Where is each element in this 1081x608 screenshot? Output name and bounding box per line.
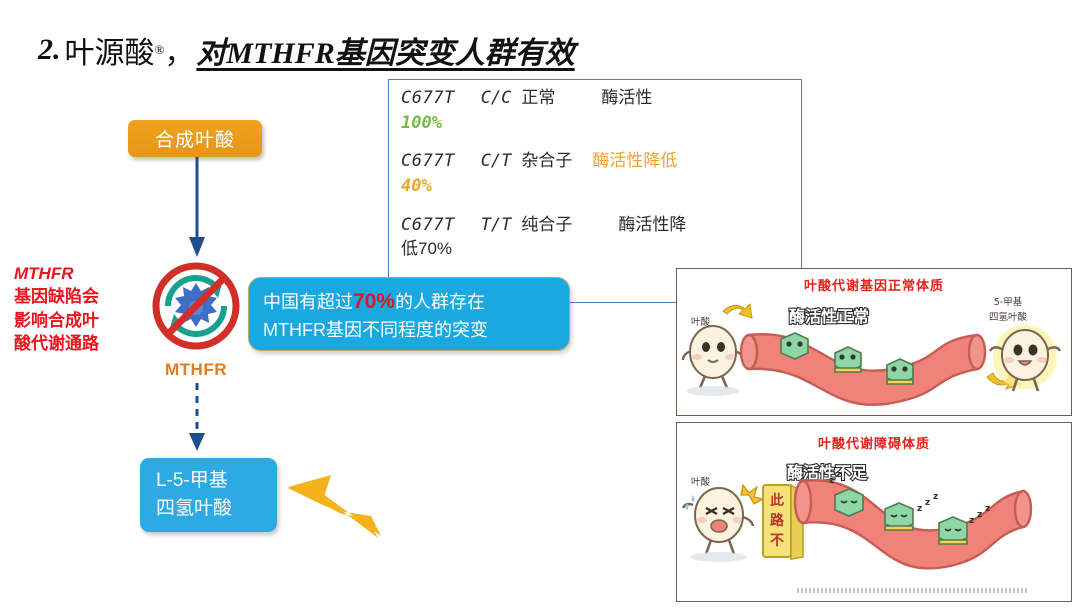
population-mutation-callout: 中国有超过70%的人群存在 MTHFR基因不同程度的突变 [248,277,570,351]
row-activity-value: 40% [401,176,432,196]
note-line-4: 酸代谢通路 [14,332,134,355]
row-genotype: T/T [481,215,512,235]
row-genotype: C/T [481,151,512,171]
svg-text:z: z [925,498,930,508]
svg-text:z: z [836,470,841,480]
l5-methyltetrahydrofolate-box[interactable]: L-5-甲基 四氢叶酸 [140,458,277,532]
svg-text:不: 不 [770,533,784,549]
mthfr-warning-note: MTHFR 基因缺陷会 影响合成叶 酸代谢通路 [14,262,134,356]
watermark [797,588,1027,593]
row-zygosity: 正常 [521,88,555,107]
row-variant: C677T [401,151,455,171]
svg-text:z: z [977,510,982,520]
table-row: C677TC/T杂合子酶活性降低 40% [401,149,791,198]
illustration-panel-impaired: 叶酸代谢障碍体质 酶活性不足 叶酸 此 路 不 [676,422,1072,602]
orange-box-label: 合成叶酸 [155,125,235,152]
svg-text:z: z [829,476,834,486]
callout-prefix: 中国有超过 [263,292,353,312]
row-activity-label: 酶活性 [601,88,652,107]
table-row: C677TC/C正常酶活性 100% [401,86,791,135]
svg-text:此: 此 [770,492,784,509]
registered-mark-icon: ® [155,42,165,58]
row-activity-value: 100% [401,113,442,133]
table-row: C677TT/T纯合子酶活性降 低70% [401,213,791,262]
illustration-panel-normal: 叶酸代谢基因正常体质 酶活性正常 叶酸 5-甲基 四氢叶酸 [676,268,1072,416]
impaired-metabolism-illustration: 此 路 不 zz zzz zzz [677,423,1072,602]
row-zygosity: 纯合子 [521,215,572,234]
note-line-1: MTHFR [14,262,134,285]
mthfr-icon-label: MTHFR [148,360,244,380]
page-title: 2. 叶源酸® ， 对MTHFR基因突变人群有效 [38,26,798,74]
arrow-down-dashed-icon [180,383,214,453]
arrow-left-yellow-icon [285,470,395,545]
note-line-3: 影响合成叶 [14,309,134,332]
row-zygosity: 杂合子 [521,151,572,170]
l5-line-1: L-5-甲基 [156,467,228,495]
note-line-2: 基因缺陷会 [14,285,134,308]
svg-text:z: z [969,516,974,526]
svg-text:z: z [985,504,990,514]
svg-text:路: 路 [770,512,785,529]
callout-suffix: 的人群存在 [395,292,485,312]
row-activity-label: 酶活性降 [618,215,686,234]
row-variant: C677T [401,88,455,108]
title-comma: ， [164,28,194,72]
callout-highlight: 70% [353,290,395,313]
svg-text:z: z [933,492,938,502]
normal-metabolism-illustration [677,269,1072,416]
callout-line-2: MTHFR基因不同程度的突变 [263,317,569,343]
arrow-down-solid-icon [180,157,214,259]
l5-line-2: 四氢叶酸 [156,495,232,523]
title-subject: 对MTHFR基因突变人群有效 [196,28,574,72]
title-product-name: 叶源酸 [65,28,155,72]
callout-line-1: 中国有超过70%的人群存在 [263,287,569,317]
svg-text:z: z [917,504,922,514]
row-genotype: C/C [481,88,512,108]
title-number: 2. [38,33,61,67]
row-variant: C677T [401,215,455,235]
synthetic-folic-acid-box[interactable]: 合成叶酸 [128,120,262,157]
row-activity-label: 酶活性降低 [592,151,677,170]
row-activity-value: 低70% [401,239,452,258]
mthfr-blocked-enzyme-icon [148,258,244,354]
